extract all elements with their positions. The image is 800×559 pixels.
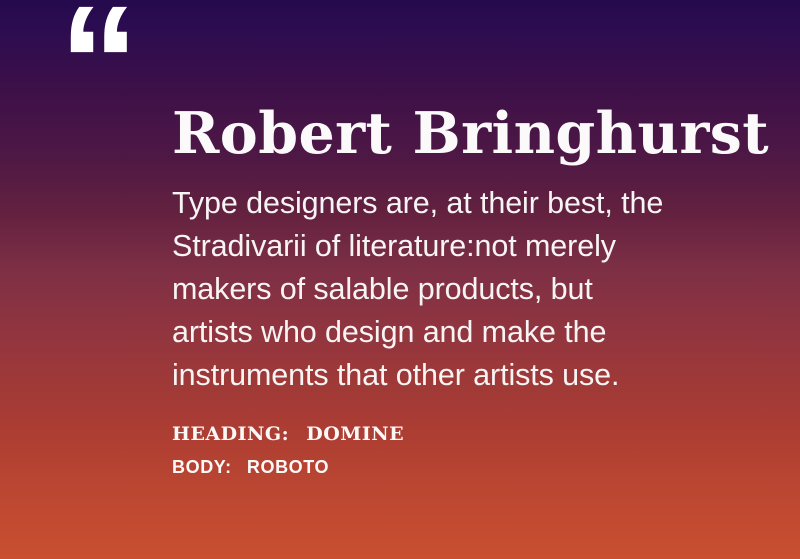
- font-credits: HEADING: DOMINE BODY: ROBOTO: [172, 425, 404, 476]
- open-quote-icon: “: [59, 0, 137, 142]
- quote-body-line: makers of salable products, but: [172, 268, 682, 311]
- quote-body-line: instruments that other artists use.: [172, 354, 682, 397]
- quote-body-line: Type designers are, at their best, the: [172, 182, 682, 225]
- quote-author-heading: Robert Bringhurst: [172, 104, 772, 164]
- quote-body-line: Stradivarii of literature:not merely: [172, 225, 682, 268]
- heading-font-credit: HEADING: DOMINE: [172, 425, 404, 444]
- quote-body-line: artists who design and make the: [172, 311, 682, 354]
- body-font-credit: BODY: ROBOTO: [172, 458, 404, 476]
- quote-content: Robert Bringhurst Type designers are, at…: [172, 104, 772, 397]
- typography-specimen-card: “ Robert Bringhurst Type designers are, …: [0, 0, 800, 559]
- quote-body-text: Type designers are, at their best, the S…: [172, 182, 682, 397]
